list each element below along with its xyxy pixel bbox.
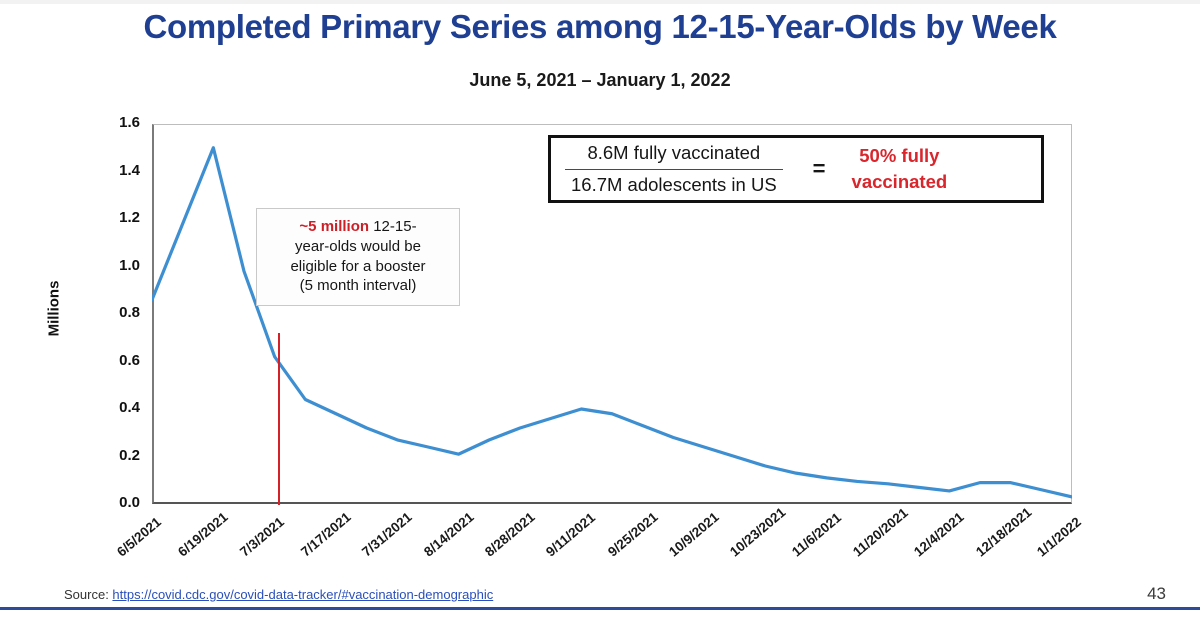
percent-result-line2: vaccinated: [852, 171, 948, 192]
y-axis-tick-label: 0.8: [96, 304, 140, 321]
y-axis-tick-label: 0.2: [96, 447, 140, 464]
x-axis-tick-label: 10/23/2021: [727, 505, 788, 560]
source-note: Source: https://covid.cdc.gov/covid-data…: [64, 587, 493, 602]
x-axis-tick-label: 7/17/2021: [298, 509, 354, 559]
annotation-line4: (5 month interval): [300, 277, 417, 294]
x-axis-tick-label: 9/11/2021: [543, 510, 598, 560]
annotation-line2: year-olds would be: [295, 238, 421, 255]
y-axis-tick-label: 0.6: [96, 352, 140, 369]
x-axis-tick-label: 7/3/2021: [237, 514, 287, 559]
vaccination-fraction: 8.6M fully vaccinated 16.7M adolescents …: [565, 140, 783, 198]
percent-result-line1: 50% fully: [859, 145, 939, 166]
page-number: 43: [1147, 584, 1166, 604]
x-axis-tick-label: 9/25/2021: [605, 509, 661, 559]
booster-annotation-box: ~5 million 12-15- year-olds would be eli…: [256, 208, 460, 306]
source-link[interactable]: https://covid.cdc.gov/covid-data-tracker…: [112, 587, 493, 602]
vaccination-rate-callout: 8.6M fully vaccinated 16.7M adolescents …: [548, 135, 1044, 203]
y-axis-tick-label: 1.2: [96, 209, 140, 226]
x-axis-tick-label: 7/31/2021: [359, 509, 415, 559]
annotation-line3: eligible for a booster: [290, 258, 425, 275]
x-axis-tick-label: 12/4/2021: [911, 509, 967, 559]
y-axis-title: Millions: [46, 249, 63, 369]
y-axis-tick-label: 1.4: [96, 162, 140, 179]
x-axis-tick-label: 6/5/2021: [114, 514, 164, 559]
annotation-highlight: ~5 million: [299, 218, 369, 235]
y-axis-tick-label: 1.6: [96, 114, 140, 131]
x-axis-tick-label: 10/9/2021: [666, 509, 722, 559]
source-label: Source:: [64, 587, 112, 602]
y-axis-tick-label: 0.0: [96, 494, 140, 511]
fraction-denominator: 16.7M adolescents in US: [565, 170, 783, 198]
y-axis-tick-label: 1.0: [96, 257, 140, 274]
annotation-line1-rest: 12-15-: [369, 218, 417, 235]
percent-result: 50% fully vaccinated: [852, 143, 948, 194]
y-axis-tick-label: 0.4: [96, 399, 140, 416]
x-axis-tick-label: 1/1/2022: [1034, 514, 1084, 559]
x-axis-tick-label: 12/18/2021: [973, 505, 1034, 560]
fraction-numerator: 8.6M fully vaccinated: [565, 140, 783, 169]
x-axis-tick-label: 8/28/2021: [482, 509, 538, 559]
chart-container: Millions 0.00.20.40.60.81.01.21.41.6 6/5…: [0, 0, 1200, 620]
footer-rule: [0, 607, 1200, 610]
slide-canvas: Completed Primary Series among 12-15-Yea…: [0, 0, 1200, 620]
booster-eligibility-marker-line: [278, 333, 280, 505]
x-axis-tick-label: 11/6/2021: [789, 510, 844, 560]
x-axis-tick-label: 11/20/2021: [850, 505, 911, 559]
equals-sign: =: [813, 156, 826, 182]
x-axis-tick-label: 6/19/2021: [175, 509, 231, 559]
x-axis-tick-label: 8/14/2021: [421, 509, 477, 559]
